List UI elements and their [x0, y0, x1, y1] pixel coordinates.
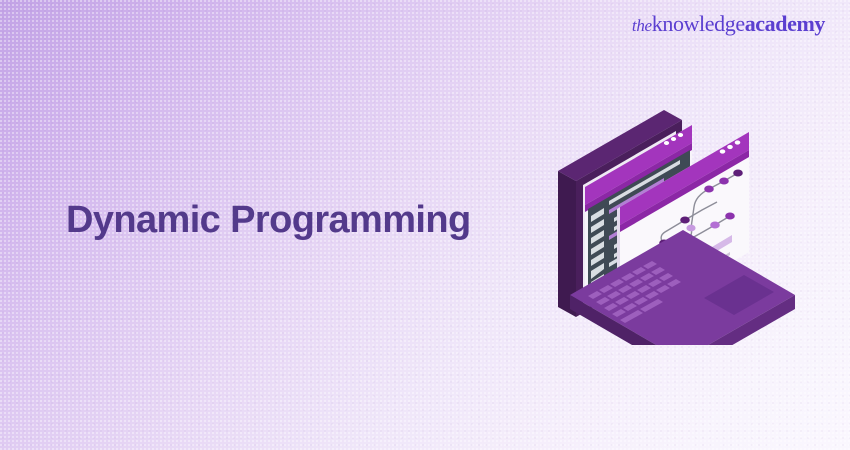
page-title: Dynamic Programming — [66, 199, 471, 242]
banner-root: theknowledgeacademy Dynamic Programming — [0, 0, 850, 450]
logo-text-knowledge: knowledge — [652, 11, 745, 36]
hero-illustration — [552, 95, 812, 345]
brand-logo[interactable]: theknowledgeacademy — [632, 13, 825, 35]
logo-text-the: the — [632, 16, 652, 35]
logo-text-academy: academy — [745, 11, 825, 36]
